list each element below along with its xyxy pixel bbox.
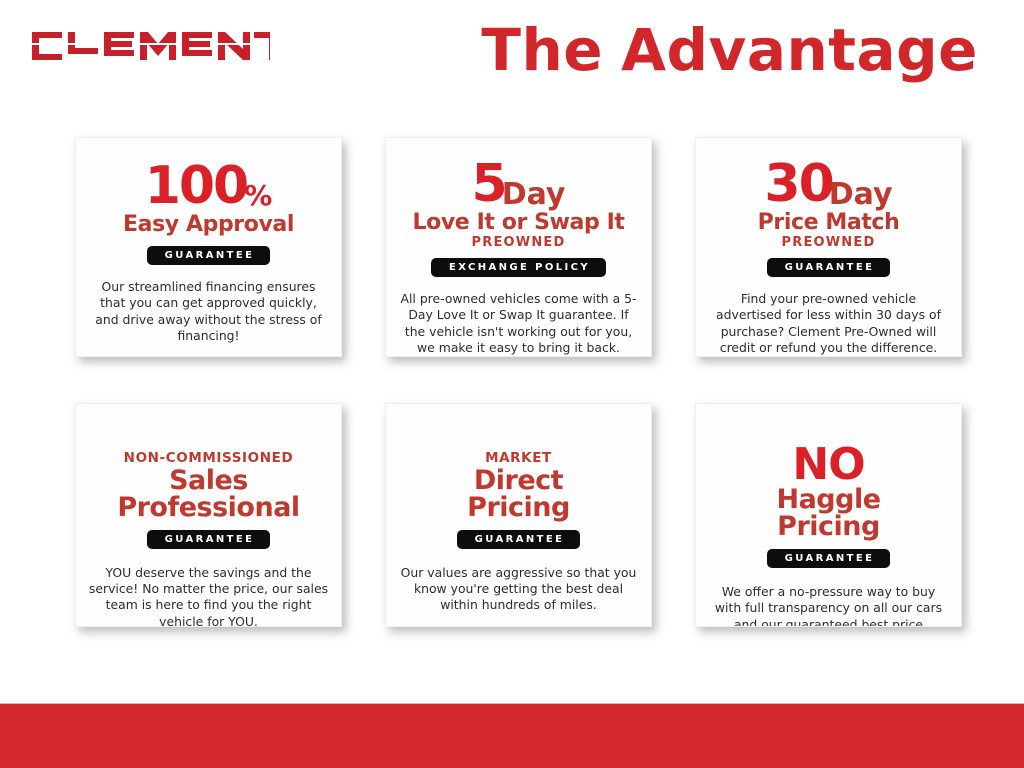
card-headline-line-1: Haggle — [776, 486, 880, 513]
card-headline-line-1: Sales — [117, 467, 299, 494]
exchange-policy-badge: EXCHANGE POLICY — [431, 258, 606, 277]
card-headline-day: Day — [829, 181, 893, 210]
page-title: TheAdvantage — [481, 16, 978, 84]
guarantee-badge: GUARANTEE — [147, 246, 271, 265]
advantage-card-easy-approval[interactable]: 100 % Easy Approval GUARANTEE Our stream… — [75, 137, 342, 357]
card-preowned-label: PREOWNED — [413, 236, 625, 249]
card-subtitle: Love It or Swap It — [413, 212, 625, 234]
card-headline-number-row: 5 Day — [413, 160, 625, 209]
card-headline: NO Haggle Pricing — [776, 444, 880, 540]
card-headline: 30 Day Price Match PREOWNED — [758, 160, 900, 249]
footer-bar — [0, 703, 1024, 768]
guarantee-badge: GUARANTEE — [147, 530, 271, 549]
card-headline-day: Day — [502, 181, 566, 210]
advantage-page: TheAdvantage 100 % Easy Approval GUARANT… — [0, 0, 1024, 768]
advantage-card-market-direct-pricing[interactable]: MARKET Direct Pricing GUARANTEE Our valu… — [385, 403, 652, 627]
advantage-card-price-match[interactable]: 30 Day Price Match PREOWNED GUARANTEE Fi… — [695, 137, 962, 357]
guarantee-badge: GUARANTEE — [767, 258, 891, 277]
clement-logo — [30, 26, 270, 66]
card-eyebrow: MARKET — [467, 452, 570, 466]
page-title-word-1: The — [481, 16, 603, 84]
card-body-text: Find your pre-owned vehicle advertised f… — [708, 291, 949, 357]
card-body-text: We offer a no-pressure way to buy with f… — [708, 584, 949, 627]
percent-symbol: % — [244, 183, 272, 210]
card-headline-number: 30 — [764, 160, 832, 209]
card-headline-line-2: Professional — [117, 494, 299, 521]
advantage-card-grid: 100 % Easy Approval GUARANTEE Our stream… — [75, 137, 968, 627]
card-headline-line-2: Pricing — [467, 494, 570, 521]
card-headline-number-row: 30 Day — [758, 160, 900, 209]
guarantee-badge: GUARANTEE — [767, 549, 891, 568]
card-eyebrow: NON-COMMISSIONED — [117, 452, 299, 466]
card-headline: NON-COMMISSIONED Sales Professional — [117, 452, 299, 521]
card-body-text: Our streamlined financing ensures that y… — [88, 279, 329, 345]
card-headline: 100 % Easy Approval — [123, 162, 294, 237]
card-headline-number-row: 100 % — [123, 162, 294, 211]
card-headline: MARKET Direct Pricing — [467, 452, 570, 521]
advantage-card-love-it-or-swap-it[interactable]: 5 Day Love It or Swap It PREOWNED EXCHAN… — [385, 137, 652, 357]
card-headline-line-2: Pricing — [776, 513, 880, 540]
card-body-text: All pre-owned vehicles come with a 5-Day… — [398, 291, 639, 357]
card-headline-big: NO — [776, 444, 880, 486]
guarantee-badge: GUARANTEE — [457, 530, 581, 549]
page-title-word-2: Advantage — [621, 16, 978, 84]
card-headline-number: 100 — [145, 162, 248, 211]
card-subtitle: Price Match — [758, 212, 900, 234]
advantage-card-sales-professional[interactable]: NON-COMMISSIONED Sales Professional GUAR… — [75, 403, 342, 627]
card-preowned-label: PREOWNED — [758, 236, 900, 249]
card-headline-line-1: Direct — [467, 467, 570, 494]
page-header: TheAdvantage — [0, 0, 1024, 105]
card-headline-number: 5 — [472, 160, 506, 209]
card-subtitle: Easy Approval — [123, 214, 294, 236]
card-headline: 5 Day Love It or Swap It PREOWNED — [413, 160, 625, 249]
advantage-card-no-haggle-pricing[interactable]: NO Haggle Pricing GUARANTEE We offer a n… — [695, 403, 962, 627]
card-body-text: YOU deserve the savings and the service!… — [88, 565, 329, 628]
card-body-text: Our values are aggressive so that you kn… — [398, 565, 639, 614]
